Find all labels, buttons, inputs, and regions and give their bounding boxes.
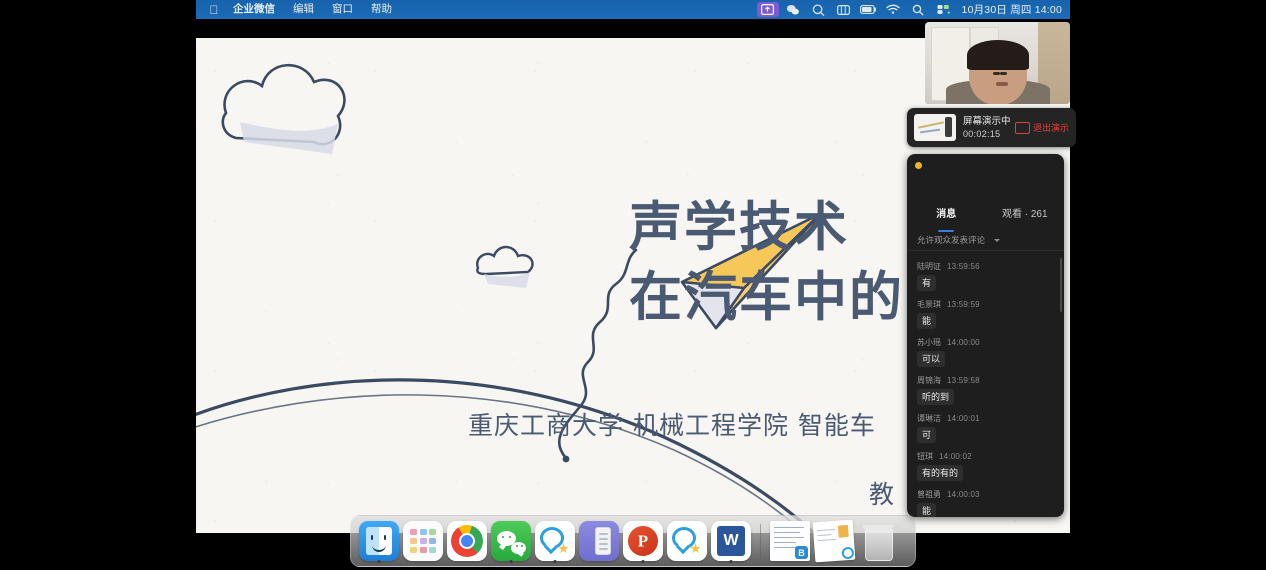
menu-item-help[interactable]: 帮助 bbox=[362, 0, 401, 19]
powerpoint-icon: P bbox=[623, 521, 663, 561]
chat-message-header: 苏小瑶14:00:00 bbox=[917, 336, 1054, 349]
video-person-eye-right bbox=[1000, 72, 1007, 75]
battery-icon[interactable] bbox=[856, 0, 881, 19]
thumb-panel bbox=[945, 117, 952, 137]
user-switch-icon[interactable] bbox=[931, 0, 956, 19]
chrome-icon bbox=[447, 521, 487, 561]
search-icon[interactable] bbox=[906, 0, 931, 19]
dock-item-chrome[interactable] bbox=[447, 517, 487, 565]
chat-message: 毛景琪13:59:59 能 bbox=[907, 296, 1064, 334]
video-person-mouth bbox=[996, 82, 1008, 86]
slide-subtitle-secondary: 教 bbox=[869, 475, 895, 511]
menu-bar-left:  企业微信 编辑 窗口 帮助 bbox=[196, 0, 401, 19]
share-status-label: 屏幕演示中 bbox=[963, 115, 1011, 128]
comment-permission-label: 允许观众发表评论 bbox=[917, 234, 985, 246]
chat-message-text: 听的到 bbox=[917, 389, 954, 405]
dock-separator bbox=[760, 524, 761, 558]
dock-item-finder[interactable] bbox=[359, 517, 399, 565]
chat-message-header: 谭琳洁14:00:01 bbox=[917, 412, 1054, 425]
running-indicator bbox=[510, 560, 513, 563]
chat-message-time: 14:00:00 bbox=[947, 338, 980, 347]
chat-scrollbar[interactable] bbox=[1060, 258, 1062, 312]
chat-message-header: 钮琪14:00:02 bbox=[917, 450, 1054, 463]
share-preview-thumbnail[interactable] bbox=[914, 114, 956, 141]
dock: P W bbox=[350, 515, 916, 567]
finder-eye-right bbox=[384, 535, 386, 540]
exit-share-button[interactable]: 退出演示 bbox=[1015, 121, 1069, 134]
chat-message-header: 毛景琪13:59:59 bbox=[917, 298, 1054, 311]
screen-share-icon[interactable] bbox=[757, 2, 779, 17]
chat-message-sender: 曾祖勇 bbox=[917, 490, 941, 499]
menu-item-window[interactable]: 窗口 bbox=[323, 0, 362, 19]
finder-smile bbox=[372, 544, 386, 552]
document-badge-circle bbox=[841, 547, 854, 560]
video-person-hair bbox=[967, 40, 1029, 70]
word-letter: W bbox=[723, 533, 738, 549]
chat-message-time: 14:00:03 bbox=[947, 490, 980, 499]
self-video-preview[interactable] bbox=[925, 22, 1070, 104]
chat-message-time: 13:59:58 bbox=[947, 376, 980, 385]
chat-message-time: 13:59:56 bbox=[947, 262, 980, 271]
chat-message-header: 陆明证13:59:56 bbox=[917, 260, 1054, 273]
running-indicator bbox=[730, 560, 733, 563]
screen-share-bar: 屏幕演示中 00:02:15 退出演示 bbox=[907, 108, 1076, 147]
dock-item-simulator[interactable] bbox=[579, 517, 619, 565]
chat-message: 周锦海13:59:58 听的到 bbox=[907, 372, 1064, 410]
launchpad-grid bbox=[410, 529, 436, 553]
dock-item-wechat[interactable] bbox=[491, 517, 531, 565]
apple-icon[interactable]:  bbox=[204, 0, 224, 19]
chat-message-list[interactable]: 陆明证13:59:56 有 毛景琪13:59:59 能 苏小瑶14:00:00 … bbox=[907, 252, 1064, 517]
screen:  企业微信 编辑 窗口 帮助 bbox=[0, 0, 1266, 570]
document-highlight bbox=[838, 525, 849, 538]
menu-item-edit[interactable]: 编辑 bbox=[284, 0, 323, 19]
window-close-button[interactable] bbox=[915, 162, 922, 169]
chat-tabs: 消息 观看 · 261 bbox=[907, 202, 1064, 228]
menu-bar:  企业微信 编辑 窗口 帮助 bbox=[196, 0, 1070, 19]
chat-message-sender: 苏小瑶 bbox=[917, 338, 941, 347]
tab-messages[interactable]: 消息 bbox=[907, 202, 986, 228]
qq-icon[interactable] bbox=[806, 0, 831, 19]
finder-eye-left bbox=[371, 535, 373, 540]
chat-message-text: 有的有的 bbox=[917, 465, 963, 481]
running-indicator bbox=[554, 560, 557, 563]
slide-subtitle: 重庆工商大学 机械工程学院 智能车 bbox=[468, 406, 876, 442]
chat-message: 苏小瑶14:00:00 可以 bbox=[907, 334, 1064, 372]
chat-message-header: 曾祖勇14:00:03 bbox=[917, 488, 1054, 501]
finder-face bbox=[366, 527, 392, 555]
trash-icon bbox=[858, 521, 898, 561]
chat-message-sender: 钮琪 bbox=[917, 452, 933, 461]
wechat-icon[interactable] bbox=[781, 0, 806, 19]
chat-message: 钮琪14:00:02 有的有的 bbox=[907, 448, 1064, 486]
thumb-line-2 bbox=[920, 129, 940, 133]
simulator-device bbox=[595, 527, 611, 555]
stop-share-icon bbox=[1015, 122, 1030, 134]
dock-item-launchpad[interactable] bbox=[403, 517, 443, 565]
dock-item-wecom[interactable] bbox=[535, 517, 575, 565]
running-indicator bbox=[378, 560, 381, 563]
chat-message-text: 有 bbox=[917, 275, 936, 291]
thumb-line-1 bbox=[918, 121, 944, 128]
control-center-icon[interactable] bbox=[831, 0, 856, 19]
chat-message-sender: 谭琳洁 bbox=[917, 414, 941, 423]
dock-item-powerpoint[interactable]: P bbox=[623, 517, 663, 565]
document-badge: B bbox=[795, 546, 808, 559]
finder-icon bbox=[359, 521, 399, 561]
word-icon: W bbox=[711, 521, 751, 561]
chat-message-text: 能 bbox=[917, 503, 936, 517]
wechat-bubble-small bbox=[511, 542, 526, 554]
menu-bar-status: 10月30日 周四 14:00 bbox=[755, 0, 1070, 19]
chat-message-sender: 周锦海 bbox=[917, 376, 941, 385]
tab-viewers[interactable]: 观看 · 261 bbox=[986, 202, 1065, 228]
wifi-icon[interactable] bbox=[881, 0, 906, 19]
chat-message-time: 14:00:01 bbox=[947, 414, 980, 423]
running-indicator bbox=[642, 560, 645, 563]
document-thumb-1-icon: B bbox=[770, 521, 810, 561]
dock-item-trash[interactable] bbox=[858, 517, 898, 565]
document-thumb-2-icon bbox=[813, 520, 856, 563]
exit-share-label: 退出演示 bbox=[1033, 121, 1069, 134]
trash-can bbox=[865, 529, 893, 561]
chat-message-text: 可以 bbox=[917, 351, 945, 367]
simulator-icon bbox=[579, 521, 619, 561]
dock-file-document-2[interactable] bbox=[814, 517, 854, 565]
chat-panel: 消息 观看 · 261 允许观众发表评论 陆明证13:59:56 有 毛景琪13… bbox=[907, 154, 1064, 517]
chat-message: 陆明证13:59:56 有 bbox=[907, 258, 1064, 296]
dock-file-document-1[interactable]: B bbox=[770, 517, 810, 565]
wechat-icon bbox=[491, 521, 531, 561]
share-elapsed-time: 00:02:15 bbox=[963, 128, 1011, 141]
dock-items: P W bbox=[359, 516, 907, 566]
chat-message-sender: 陆明证 bbox=[917, 262, 941, 271]
chat-message-sender: 毛景琪 bbox=[917, 300, 941, 309]
dock-item-word[interactable]: W bbox=[711, 517, 751, 565]
video-person-eye-left bbox=[993, 72, 1000, 75]
qq-icon bbox=[667, 521, 707, 561]
powerpoint-letter: P bbox=[638, 533, 648, 550]
chat-message-text: 可 bbox=[917, 427, 936, 443]
menu-app-name[interactable]: 企业微信 bbox=[224, 0, 284, 19]
wecom-icon bbox=[535, 521, 575, 561]
menu-bar-clock[interactable]: 10月30日 周四 14:00 bbox=[956, 2, 1062, 17]
chat-message-time: 14:00:02 bbox=[939, 452, 972, 461]
comment-permission-dropdown[interactable]: 允许观众发表评论 bbox=[907, 230, 1064, 251]
chat-message: 曾祖勇14:00:03 能 bbox=[907, 486, 1064, 517]
chat-message-time: 13:59:59 bbox=[947, 300, 980, 309]
dock-item-qq[interactable] bbox=[667, 517, 707, 565]
chevron-down-icon bbox=[994, 239, 1000, 242]
chat-message-header: 周锦海13:59:58 bbox=[917, 374, 1054, 387]
share-status-group: 屏幕演示中 00:02:15 bbox=[963, 115, 1011, 141]
chat-message-text: 能 bbox=[917, 313, 936, 329]
launchpad-icon bbox=[403, 521, 443, 561]
chat-message: 谭琳洁14:00:01 可 bbox=[907, 410, 1064, 448]
chrome-center bbox=[459, 533, 475, 549]
